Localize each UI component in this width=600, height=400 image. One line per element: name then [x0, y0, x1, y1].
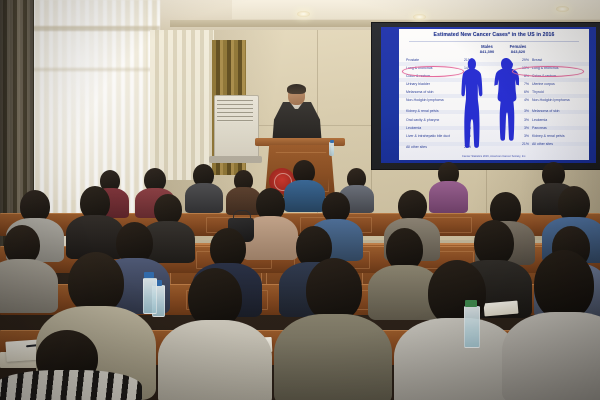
- water-bottle: [464, 306, 480, 348]
- curtain-rail: [22, 26, 160, 31]
- torso: [185, 183, 223, 213]
- torso: [274, 314, 392, 400]
- downlight-icon: [413, 14, 426, 20]
- male-column-count: 841,390: [470, 49, 504, 54]
- vertical-blinds: [150, 30, 214, 180]
- air-conditioner-base: [209, 156, 262, 163]
- head: [534, 250, 594, 320]
- lecture-hall-photo: Estimated New Cancer Cases* in the US in…: [0, 0, 600, 400]
- bottle-cap: [465, 300, 477, 307]
- list-item: 21%All other sites: [516, 143, 584, 151]
- presentation-slide: Estimated New Cancer Cases* in the US in…: [399, 29, 589, 160]
- head: [306, 258, 362, 322]
- podium-water-bottle: [329, 142, 334, 156]
- slide-divider: [409, 41, 579, 42]
- torso: [158, 320, 272, 400]
- torso: [284, 180, 325, 212]
- slide-footnote: Cancer Statistics 2016, American Cancer …: [399, 155, 589, 158]
- bottle-cap: [144, 272, 154, 278]
- slide-title: Estimated New Cancer Cases* in the US in…: [399, 32, 589, 38]
- curtain-rail: [22, 68, 160, 71]
- torso: [394, 318, 518, 400]
- head: [188, 268, 242, 328]
- female-column-count: 843,820: [501, 49, 535, 54]
- downlight-icon: [556, 6, 569, 12]
- speaker-hair: [287, 84, 306, 94]
- torso: [502, 312, 600, 400]
- handbag-strap: [233, 210, 251, 220]
- torso: [0, 259, 58, 313]
- head: [68, 252, 124, 314]
- torso: [429, 181, 468, 213]
- highlight-ellipse-female: [512, 66, 584, 77]
- downlight-icon: [297, 11, 310, 17]
- highlight-ellipse-male: [402, 66, 464, 77]
- torso: [0, 370, 142, 400]
- podium-bottle-cap: [330, 140, 334, 143]
- water-bottle: [143, 278, 157, 314]
- air-conditioner-vents-icon: [217, 100, 253, 122]
